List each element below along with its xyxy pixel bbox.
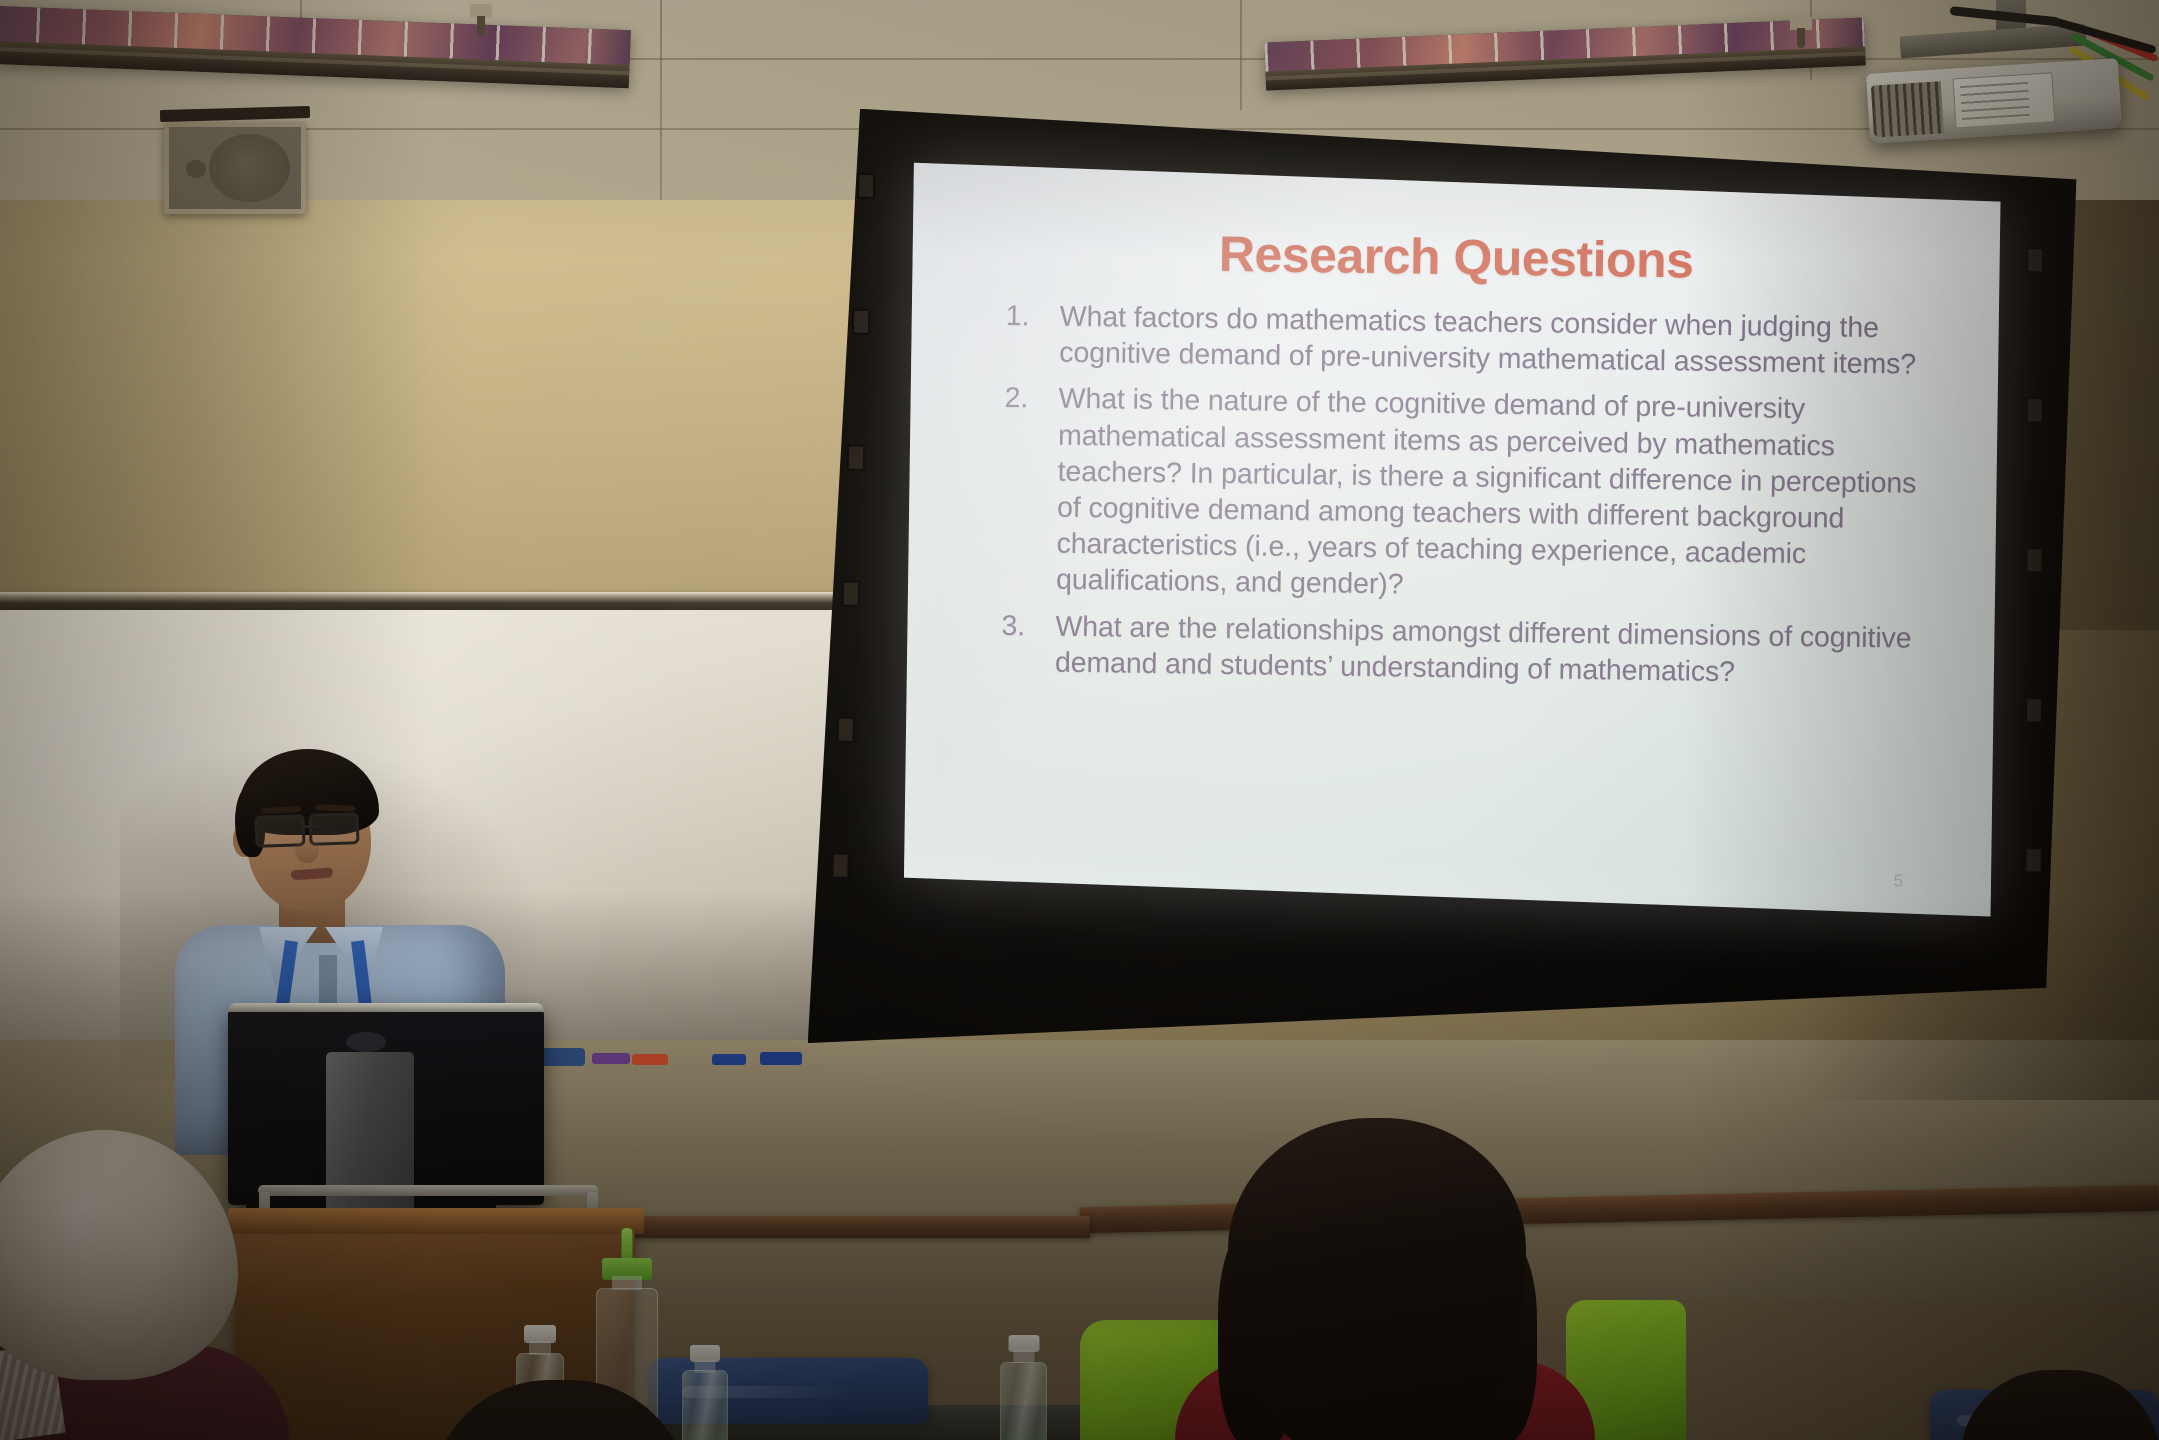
speaker-cone-icon xyxy=(209,134,291,203)
slide-title: Research Questions xyxy=(956,221,1956,293)
screen-tension-tab xyxy=(2026,247,2044,273)
screen-tension-tab xyxy=(857,173,875,199)
screen-tension-tab xyxy=(2025,847,2043,873)
marker-blue-2 xyxy=(760,1052,802,1065)
audience-member-front-right-head xyxy=(1228,1118,1526,1440)
fire-sprinkler-icon xyxy=(470,4,492,18)
slide-question-item: What are the relationships amongst diffe… xyxy=(997,607,1945,693)
screen-tension-tab xyxy=(831,852,849,878)
fire-sprinkler-icon xyxy=(1790,16,1812,30)
screen-tension-tab xyxy=(2025,697,2043,723)
projector-label xyxy=(1953,72,2056,128)
slide-question-item: What is the nature of the cognitive dema… xyxy=(998,380,1948,610)
presenter-nose xyxy=(295,837,319,863)
lectern-metal-rail xyxy=(258,1185,598,1196)
screen-tension-tab xyxy=(2026,397,2044,423)
lectern-work-surface xyxy=(228,1208,644,1234)
screen-tension-tab xyxy=(847,445,865,471)
audience-member-far-right-head xyxy=(1960,1370,2159,1440)
glasses-bridge-icon xyxy=(303,825,319,828)
screen-tension-tab xyxy=(852,309,870,335)
water-bottle xyxy=(682,1345,728,1440)
wall-speaker xyxy=(164,122,306,214)
screen-tension-tab xyxy=(2025,547,2043,573)
slide-question-item: What factors do mathematics teachers con… xyxy=(1001,298,1949,384)
monitor-logo-icon xyxy=(346,1032,386,1052)
water-bottle xyxy=(1000,1335,1047,1440)
screen-tension-tab xyxy=(836,717,854,743)
screen-tension-tab xyxy=(842,581,860,607)
marker-purple xyxy=(592,1053,630,1064)
speaker-tweeter-icon xyxy=(186,160,206,178)
monitor-top-edge xyxy=(228,1003,544,1012)
slide-question-list: What factors do mathematics teachers con… xyxy=(997,298,1949,693)
slide-number: 5 xyxy=(1893,871,1903,891)
projection-screen-assembly: Research Questions What factors do mathe… xyxy=(808,108,2078,1063)
wood-chair-rail-left xyxy=(610,1216,1090,1238)
marker-red xyxy=(632,1054,668,1065)
projected-slide: Research Questions What factors do mathe… xyxy=(904,163,2001,917)
lecture-hall-photo: Research Questions What factors do mathe… xyxy=(0,0,2159,1440)
whiteboard-top-rail xyxy=(0,592,880,612)
marker-blue xyxy=(712,1054,746,1065)
